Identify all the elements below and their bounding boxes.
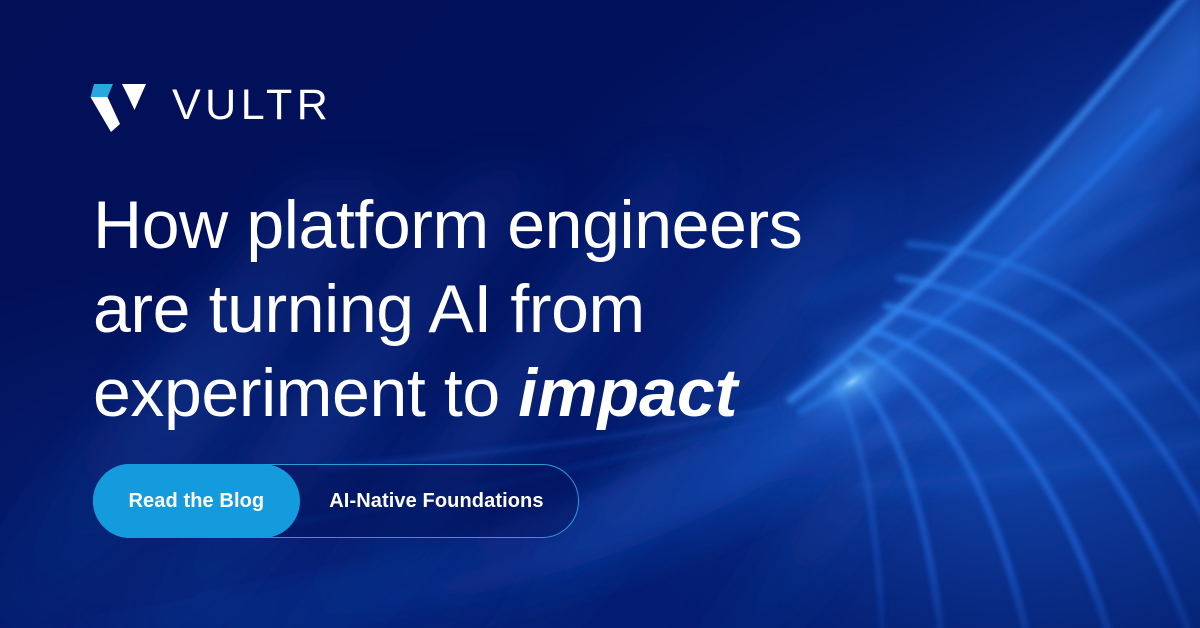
vultr-wordmark: VULTR (172, 84, 332, 127)
ai-native-foundations-link[interactable]: AI-Native Foundations (300, 490, 543, 513)
headline-emphasis: impact (518, 355, 737, 431)
vultr-v-mark-icon (89, 74, 151, 136)
headline-line-2: are turning AI from (93, 267, 873, 351)
headline-line-1: How platform engineers (93, 183, 873, 267)
headline-line-3: experiment to impact (93, 351, 873, 435)
cta-pill-group[interactable]: Read the Blog AI-Native Foundations (93, 464, 579, 538)
headline-line-3-prefix: experiment to (93, 355, 518, 431)
promo-banner: VULTR How platform engineers are turning… (0, 0, 1200, 628)
vultr-logo[interactable]: VULTR (89, 74, 332, 136)
page-title: How platform engineers are turning AI fr… (93, 183, 873, 435)
read-the-blog-button[interactable]: Read the Blog (93, 464, 301, 538)
